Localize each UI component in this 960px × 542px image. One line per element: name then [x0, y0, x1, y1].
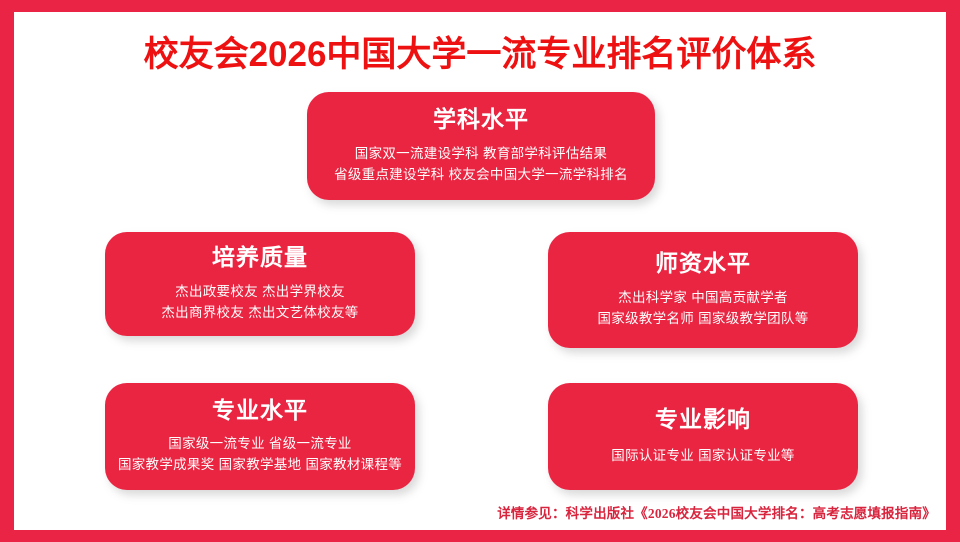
footer-source-note: 详情参见：科学出版社《2026校友会中国大学排名：高考志愿填报指南》	[497, 502, 936, 522]
card-quality-lines: 杰出政要校友 杰出学界校友 杰出商界校友 杰出文艺体校友等	[161, 282, 358, 324]
card-major-level[interactable]: 专业水平 国家级一流专业 省级一流专业 国家教学成果奖 国家教学基地 国家教材课…	[105, 383, 415, 490]
card-discipline-lines: 国家双一流建设学科 教育部学科评估结果 省级重点建设学科 校友会中国大学一流学科…	[334, 144, 628, 186]
card-discipline[interactable]: 学科水平 国家双一流建设学科 教育部学科评估结果 省级重点建设学科 校友会中国大…	[307, 92, 655, 200]
card-faculty-line-2: 国家级教学名师 国家级教学团队等	[597, 309, 808, 330]
card-quality-title: 培养质量	[212, 244, 308, 272]
card-discipline-line-2: 省级重点建设学科 校友会中国大学一流学科排名	[334, 165, 628, 186]
poster-canvas: 校友会2026中国大学一流专业排名评价体系 学科水平 国家双一流建设学科 教育部…	[14, 12, 946, 530]
card-major-impact-title: 专业影响	[655, 406, 751, 434]
card-quality-line-2: 杰出商界校友 杰出文艺体校友等	[161, 303, 358, 324]
page-title: 校友会2026中国大学一流专业排名评价体系	[14, 36, 946, 75]
card-faculty[interactable]: 师资水平 杰出科学家 中国高贡献学者 国家级教学名师 国家级教学团队等	[548, 232, 858, 348]
card-major-impact[interactable]: 专业影响 国际认证专业 国家认证专业等	[548, 383, 858, 490]
card-major-impact-lines: 国际认证专业 国家认证专业等	[611, 446, 794, 467]
card-discipline-line-1: 国家双一流建设学科 教育部学科评估结果	[334, 144, 628, 165]
card-faculty-lines: 杰出科学家 中国高贡献学者 国家级教学名师 国家级教学团队等	[597, 288, 808, 330]
card-major-level-title: 专业水平	[212, 397, 308, 425]
card-quality[interactable]: 培养质量 杰出政要校友 杰出学界校友 杰出商界校友 杰出文艺体校友等	[105, 232, 415, 336]
card-major-level-line-2: 国家教学成果奖 国家教学基地 国家教材课程等	[118, 455, 402, 476]
poster-root: 校友会2026中国大学一流专业排名评价体系 学科水平 国家双一流建设学科 教育部…	[0, 0, 960, 542]
card-major-level-lines: 国家级一流专业 省级一流专业 国家教学成果奖 国家教学基地 国家教材课程等	[118, 434, 402, 476]
card-faculty-title: 师资水平	[655, 250, 751, 278]
card-quality-line-1: 杰出政要校友 杰出学界校友	[161, 282, 358, 303]
card-discipline-title: 学科水平	[433, 106, 529, 134]
card-major-impact-line-1: 国际认证专业 国家认证专业等	[611, 446, 794, 467]
card-faculty-line-1: 杰出科学家 中国高贡献学者	[597, 288, 808, 309]
card-major-level-line-1: 国家级一流专业 省级一流专业	[118, 434, 402, 455]
